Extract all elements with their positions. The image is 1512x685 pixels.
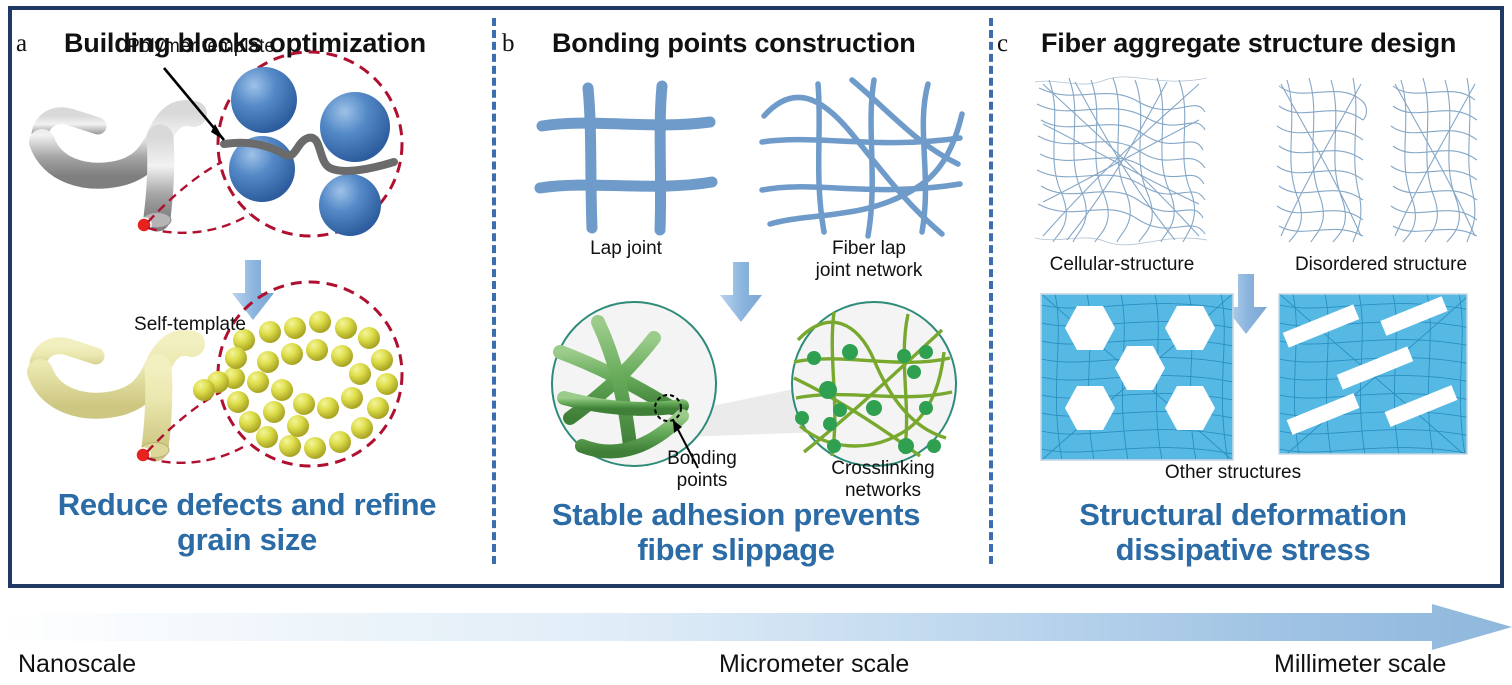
panel-a-letter: a [16,30,27,58]
figure-root: a Building blocks optimization [0,0,1512,685]
label-crosslinking-line1: Crosslinking [798,458,968,480]
label-other-structures: Other structures [1123,462,1343,484]
cellular-structure-image [1035,76,1207,244]
panel-c-title: Fiber aggregate structure design [1041,28,1456,59]
scale-label-millimeter: Millimeter scale [1274,650,1446,679]
panel-a: a Building blocks optimization [12,10,492,580]
panel-b: b Bonding points construction Lap joint [496,10,986,580]
panel-c-letter: c [997,30,1008,58]
panel-a-headline-line2: grain size [12,523,482,558]
label-lap-joint: Lap joint [536,238,716,260]
panel-a-headline-line1: Reduce defects and refine [12,488,482,523]
label-polymer-template: Polymer template [86,36,316,58]
panel-c-headline: Structural deformation dissipative stres… [993,498,1493,567]
panel-c-headline-line1: Structural deformation [993,498,1493,533]
scale-gradient-arrow [0,604,1512,650]
label-bonding-line2: points [632,470,772,492]
panel-b-title: Bonding points construction [552,28,916,59]
label-fiber-lap-line1: Fiber lap [784,238,954,260]
label-self-template: Self-template [90,314,290,336]
fiber-lap-joint-network-illustration [756,72,966,242]
disordered-structure-image [1275,76,1481,244]
scale-label-nanoscale: Nanoscale [18,650,136,679]
panel-c-headline-line2: dissipative stress [993,533,1493,568]
panel-c: c Fiber aggregate structure design [993,10,1508,580]
scale-label-micrometer: Micrometer scale [719,650,909,679]
panel-b-headline-line2: fiber slippage [496,533,976,568]
label-cellular-structure: Cellular-structure [1015,254,1229,276]
hexagonal-porous-structure-image [1041,294,1233,460]
panel-b-headline-line1: Stable adhesion prevents [496,498,976,533]
label-fiber-lap-line2: joint network [784,260,954,282]
label-disordered-structure: Disordered structure [1265,254,1497,276]
panel-a-headline: Reduce defects and refine grain size [12,488,482,557]
panel-b-letter: b [502,30,515,58]
lap-joint-illustration [532,78,722,238]
polymer-template-illustration [12,62,492,262]
slit-lattice-structure-image [1279,294,1467,454]
label-bonding-points: Bonding points [632,448,772,493]
panel-b-headline: Stable adhesion prevents fiber slippage [496,498,976,567]
label-bonding-line1: Bonding [632,448,772,470]
self-template-illustration [12,310,492,490]
label-fiber-lap-joint-network: Fiber lap joint network [784,238,954,283]
